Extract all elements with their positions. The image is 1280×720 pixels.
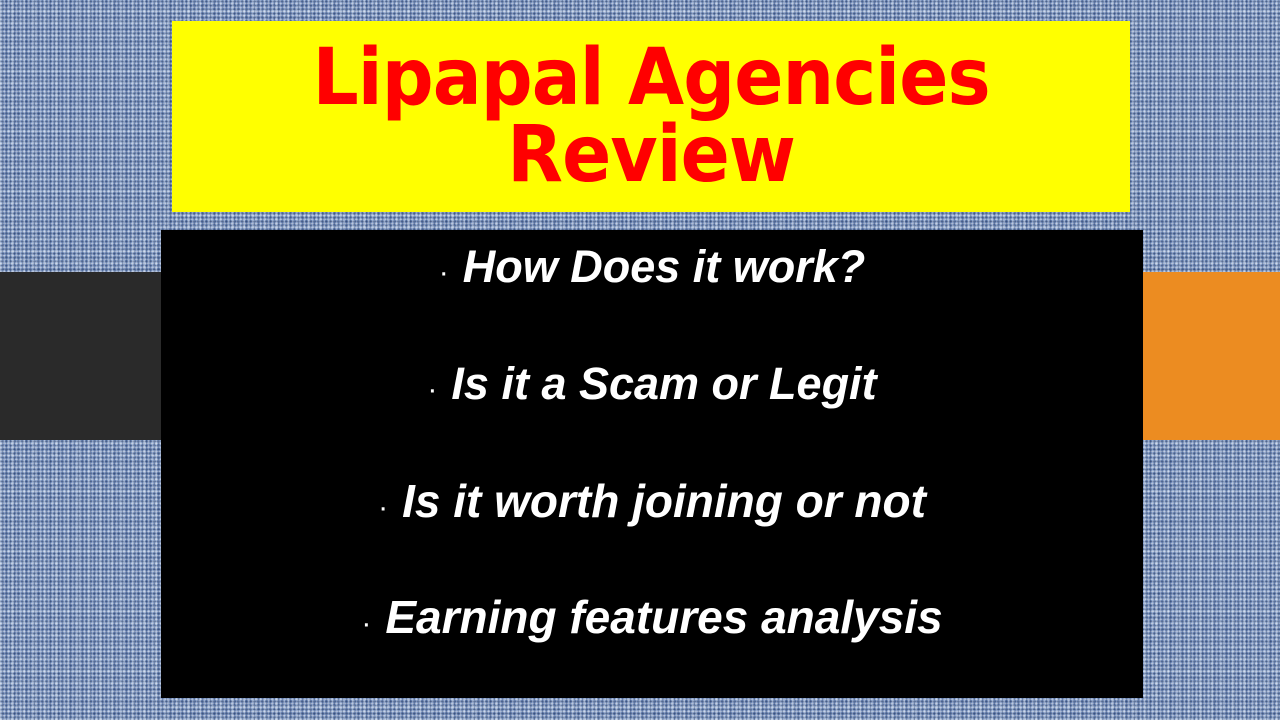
- list-item: · Is it worth joining or not: [161, 478, 1143, 595]
- right-orange-band: [1143, 272, 1280, 440]
- left-dark-band: [0, 272, 162, 440]
- bullet-text-4: Earning features analysis: [385, 594, 942, 640]
- list-item: · Earning features analysis: [161, 594, 1143, 698]
- list-item: · How Does it work?: [161, 244, 1143, 361]
- bullet-point-icon: ·: [378, 493, 388, 523]
- bullet-text-2: Is it a Scam or Legit: [451, 361, 876, 406]
- bullet-text-3: Is it worth joining or not: [402, 478, 926, 524]
- bullet-panel: · How Does it work? · Is it a Scam or Le…: [161, 230, 1143, 698]
- bullet-point-icon: ·: [439, 258, 449, 288]
- list-item: · Is it a Scam or Legit: [161, 361, 1143, 478]
- bullet-text-1: How Does it work?: [463, 244, 866, 289]
- bullet-point-icon: ·: [427, 375, 437, 405]
- bullet-point-icon: ·: [361, 609, 371, 639]
- page-title: Lipapal Agencies Review: [312, 40, 989, 193]
- slide-canvas: Lipapal Agencies Review · How Does it wo…: [0, 0, 1280, 720]
- title-plate: Lipapal Agencies Review: [172, 21, 1130, 212]
